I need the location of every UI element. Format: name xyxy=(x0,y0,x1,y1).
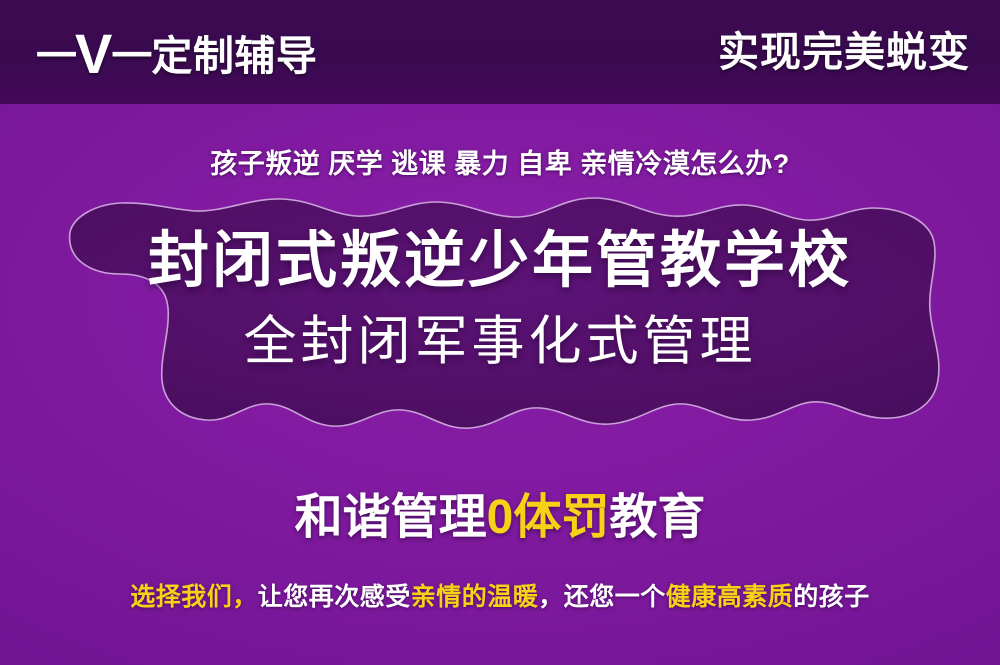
logo-dash-right: 一 xyxy=(111,36,151,77)
slogan-line: 和谐管理0体罚教育 xyxy=(0,492,1000,545)
main-headline: 封闭式叛逆少年管教学校 全封闭军事化式管理 xyxy=(0,228,1000,370)
tagline-seg-6: 的孩子 xyxy=(793,583,870,611)
header-slogan: 实现完美蜕变 xyxy=(718,32,970,73)
headline-line-1: 封闭式叛逆少年管教学校 xyxy=(0,228,1000,292)
slogan-highlight: 0体罚 xyxy=(487,491,610,544)
tagline-seg-3: 亲情的温暖 xyxy=(411,583,539,611)
banner-header: 一V一定制辅导 实现完美蜕变 xyxy=(0,0,1000,104)
bottom-tagline: 选择我们，让您再次感受亲情的温暖，还您一个健康高素质的孩子 xyxy=(0,584,1000,612)
slogan-part-3: 教育 xyxy=(609,491,705,544)
slogan-part-1: 和谐管理 xyxy=(295,491,487,544)
tagline-seg-4: ，还您一个 xyxy=(538,583,666,611)
promo-banner: 一V一定制辅导 实现完美蜕变 孩子叛逆 厌学 逃课 暴力 自卑 亲情冷漠怎么办?… xyxy=(0,0,1000,665)
logo-dash-left: 一 xyxy=(36,36,76,77)
headline-line-2: 全封闭军事化式管理 xyxy=(0,314,1000,370)
logo-letter-v: V xyxy=(75,30,112,78)
brand-logo: 一V一定制辅导 xyxy=(36,27,317,77)
subtitle-question: 孩子叛逆 厌学 逃课 暴力 自卑 亲情冷漠怎么办? xyxy=(0,142,1000,181)
tagline-seg-2: 让您再次感受 xyxy=(258,583,411,611)
tagline-seg-5: 健康高素质 xyxy=(666,583,794,611)
logo-label: 定制辅导 xyxy=(151,36,317,77)
tagline-seg-1: 选择我们， xyxy=(130,583,258,611)
